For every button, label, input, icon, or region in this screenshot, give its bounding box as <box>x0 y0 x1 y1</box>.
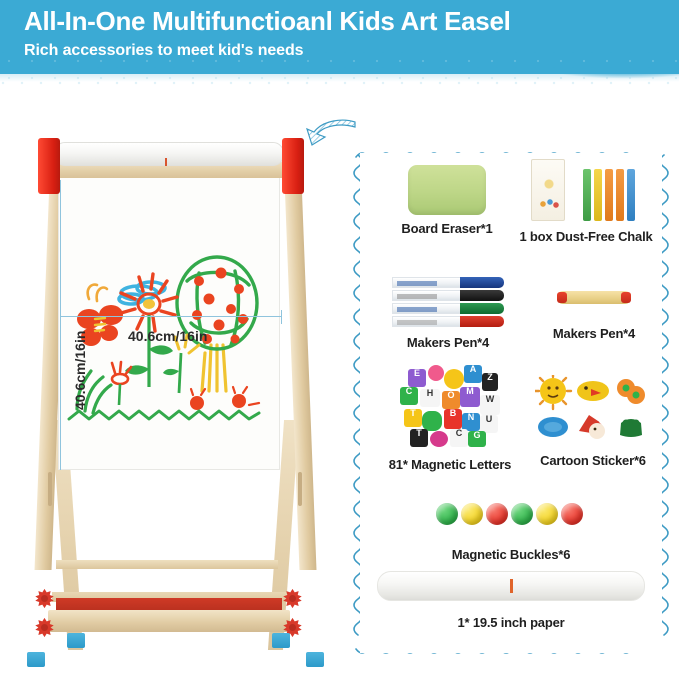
easel-whiteboard <box>58 172 280 470</box>
buckle-green-1 <box>436 503 458 525</box>
easel-tray-front <box>48 610 290 632</box>
accessory-marker-pens: Makers Pen*4 <box>378 277 518 350</box>
yellow-pen-icon <box>557 291 631 304</box>
chalk-stick-yellow <box>594 169 602 221</box>
accessories-panel: Board Eraser*1 1 box Dust-Free Chalk <box>350 143 672 663</box>
accessory-label-magnetic-letters: 81* Magnetic Letters <box>380 457 520 472</box>
easel-foot-front-right <box>306 652 324 667</box>
chalk-box-artwork <box>536 174 562 214</box>
accessory-dustfree-chalk: 1 box Dust-Free Chalk <box>512 159 660 244</box>
marker-cap-blue <box>460 277 504 288</box>
dimension-line-vertical <box>60 180 61 470</box>
chalk-stick-orange-2 <box>616 169 624 221</box>
marker-cap-black <box>460 290 504 301</box>
accessory-label-marker-pens: Makers Pen*4 <box>378 335 518 350</box>
magnetic-buckles-icon <box>436 503 586 529</box>
buckle-red-1 <box>486 503 508 525</box>
leg-slot-left <box>48 472 52 506</box>
easel-corner-cap-left <box>38 138 60 194</box>
accessory-magnetic-buckles: Magnetic Buckles*6 <box>436 503 586 562</box>
dimension-label-height: 40.6cm/16in <box>72 331 88 410</box>
dimension-line-horizontal <box>60 316 282 317</box>
accessory-label-paper-roll: 1* 19.5 inch paper <box>376 615 646 630</box>
cartoon-stickers-icon <box>535 375 651 447</box>
header-banner: All-In-One Multifunctioanl Kids Art Ease… <box>0 0 679 92</box>
chalk-stick-green <box>583 169 591 221</box>
dimension-tick-right <box>281 310 282 324</box>
easel-foot-back-left <box>67 633 85 648</box>
buckle-yellow-2 <box>536 503 558 525</box>
marker-cap-red <box>460 316 504 327</box>
panel-content: Board Eraser*1 1 box Dust-Free Chalk <box>360 153 662 653</box>
easel-corner-cap-right <box>282 138 304 194</box>
marker-pens-icon <box>392 277 504 329</box>
accessory-label-chalk: 1 box Dust-Free Chalk <box>512 229 660 244</box>
magnetic-letters-icon: E A Z C H O M W T B N U T C G <box>398 365 502 451</box>
easel-foot-back-right <box>272 633 290 648</box>
easel-cross-bar <box>56 560 278 569</box>
chalk-stick-blue <box>627 169 635 221</box>
dimension-label-width: 40.6cm/16in <box>128 328 207 344</box>
chalk-box-icon <box>525 159 647 223</box>
leg-slot-right <box>298 472 302 506</box>
accessory-label-board-eraser: Board Eraser*1 <box>382 221 512 236</box>
accessory-magnetic-letters: E A Z C H O M W T B N U T C G 81* Magne <box>380 365 520 472</box>
accessory-label-cartoon-stickers: Cartoon Sticker*6 <box>520 453 666 468</box>
marker-cap-green <box>460 303 504 314</box>
buckle-red-2 <box>561 503 583 525</box>
accessory-paper-roll: 1* 19.5 inch paper <box>376 571 646 630</box>
paper-roll-icon <box>377 571 645 601</box>
accessory-label-magnetic-buckles: Magnetic Buckles*6 <box>436 547 586 562</box>
buckle-yellow-1 <box>461 503 483 525</box>
accessory-yellow-pen: Makers Pen*4 <box>528 291 660 341</box>
adjustment-knob-left-upper <box>34 588 55 609</box>
easel-foot-front-left <box>27 652 45 667</box>
buckle-green-2 <box>511 503 533 525</box>
accessory-cartoon-stickers: Cartoon Sticker*6 <box>520 375 666 468</box>
adjustment-knob-right-upper <box>282 588 303 609</box>
chalk-box-package <box>531 159 565 221</box>
child-drawing <box>59 173 281 471</box>
board-eraser-icon <box>408 165 486 215</box>
accessory-board-eraser: Board Eraser*1 <box>382 165 512 236</box>
easel-paper-roll <box>54 142 284 166</box>
page-title: All-In-One Multifunctioanl Kids Art Ease… <box>24 6 511 37</box>
chalk-stick-orange-1 <box>605 169 613 221</box>
adjustment-knob-left-lower <box>34 617 55 638</box>
easel-illustration: 40.6cm/16in 40.6cm/16in <box>10 120 340 665</box>
roll-marker <box>165 158 167 166</box>
accessory-label-yellow-pen: Makers Pen*4 <box>528 326 660 341</box>
page-subtitle: Rich accessories to meet kid's needs <box>24 42 303 60</box>
